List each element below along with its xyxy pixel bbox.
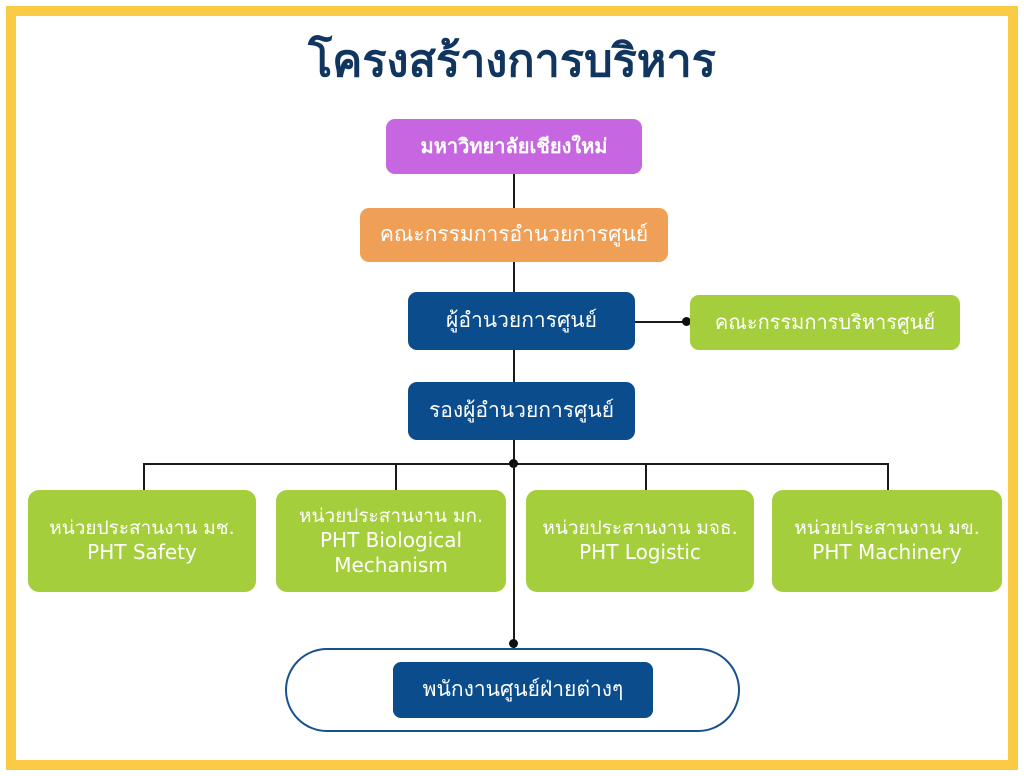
node-center-director[interactable]: ผู้อำนวยการศูนย์ bbox=[408, 292, 635, 350]
node-deputy-director[interactable]: รองผู้อำนวยการศูนย์ bbox=[408, 382, 635, 440]
unit-label-th-2: หน่วยประสานงาน มจธ. bbox=[542, 517, 737, 540]
page-title: โครงสร้างการบริหาร bbox=[0, 32, 1024, 90]
connector-director-to-deputy bbox=[513, 350, 515, 382]
org-chart-canvas: โครงสร้างการบริหาร มหาวิทยาลัยเชียงใหม่ … bbox=[0, 0, 1024, 776]
unit-label-th-0: หน่วยประสานงาน มช. bbox=[49, 517, 234, 540]
unit-label-th-1: หน่วยประสานงาน มก. bbox=[299, 505, 483, 528]
connector-university-to-steering bbox=[513, 174, 515, 208]
connector-dot-staff bbox=[509, 639, 518, 648]
connector-bus-to-unit-3 bbox=[887, 463, 889, 491]
connector-bus-to-unit-1 bbox=[395, 463, 397, 491]
connector-bus-to-unit-2 bbox=[645, 463, 647, 491]
unit-label-th-3: หน่วยประสานงาน มข. bbox=[794, 517, 980, 540]
unit-label-en-2: PHT Logistic bbox=[579, 540, 701, 564]
connector-bus-to-unit-0 bbox=[143, 463, 145, 491]
node-coordination-unit-ku[interactable]: หน่วยประสานงาน มก. PHT Biological Mechan… bbox=[276, 490, 506, 592]
node-coordination-unit-cmu[interactable]: หน่วยประสานงาน มช. PHT Safety bbox=[28, 490, 256, 592]
node-university[interactable]: มหาวิทยาลัยเชียงใหม่ bbox=[386, 119, 642, 174]
node-coordination-unit-kku[interactable]: หน่วยประสานงาน มข. PHT Machinery bbox=[772, 490, 1002, 592]
connector-steering-to-director bbox=[513, 262, 515, 292]
node-executive-board[interactable]: คณะกรรมการบริหารศูนย์ bbox=[690, 295, 960, 350]
slide-page: โครงสร้างการบริหาร มหาวิทยาลัยเชียงใหม่ … bbox=[0, 0, 1024, 776]
connector-bus-to-staff bbox=[513, 463, 515, 651]
node-steering-committee[interactable]: คณะกรรมการอำนวยการศูนย์ bbox=[360, 208, 668, 262]
unit-label-en-3: PHT Machinery bbox=[812, 540, 961, 564]
node-coordination-unit-kmutt[interactable]: หน่วยประสานงาน มจธ. PHT Logistic bbox=[526, 490, 754, 592]
node-center-staff[interactable]: พนักงานศูนย์ฝ่ายต่างๆ bbox=[393, 662, 653, 718]
unit-label-en-1: PHT Biological Mechanism bbox=[284, 528, 498, 577]
unit-label-en-0: PHT Safety bbox=[87, 540, 197, 564]
